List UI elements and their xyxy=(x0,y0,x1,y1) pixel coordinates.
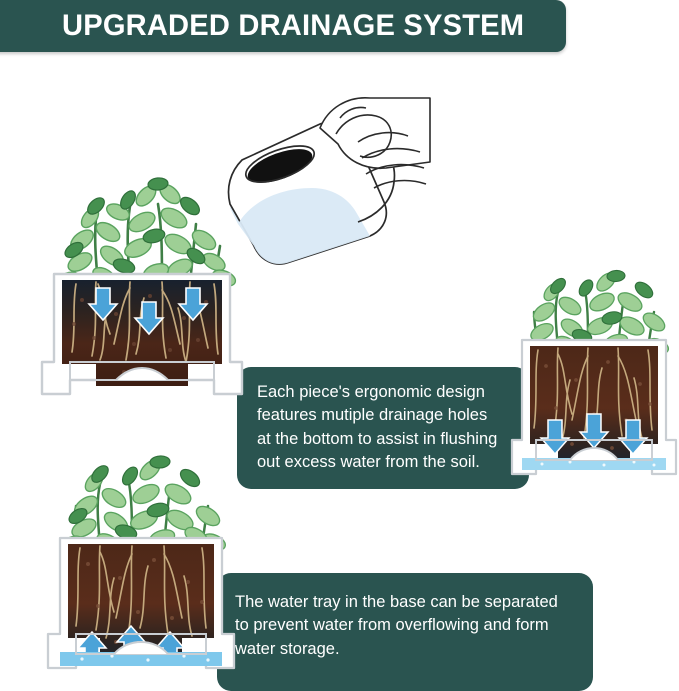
planter-watering-illustration xyxy=(38,148,246,400)
page-title: UPGRADED DRAINAGE SYSTEM xyxy=(62,9,524,43)
infographic-canvas: UPGRADED DRAINAGE SYSTEM Each piece's er… xyxy=(0,0,679,691)
planter-draining-illustration xyxy=(508,268,679,500)
callout-water-tray: The water tray in the base can be separa… xyxy=(217,573,593,691)
callout-line: The water tray in the base can be separa… xyxy=(235,591,577,614)
callout-line: to prevent water from overflowing and fo… xyxy=(235,614,577,637)
callout-line: at the bottom to assist in flushing xyxy=(257,428,513,451)
title-banner: UPGRADED DRAINAGE SYSTEM xyxy=(0,0,566,52)
callout-line: features mutiple drainage holes xyxy=(257,404,513,427)
callout-drainage-holes: Each piece's ergonomic design features m… xyxy=(237,367,529,489)
callout-line: Each piece's ergonomic design xyxy=(257,381,513,404)
callout-line: water storage. xyxy=(235,638,577,661)
watering-can-illustration xyxy=(224,84,432,280)
callout-line: out excess water from the soil. xyxy=(257,451,513,474)
planter-water-storage-illustration xyxy=(44,452,238,691)
